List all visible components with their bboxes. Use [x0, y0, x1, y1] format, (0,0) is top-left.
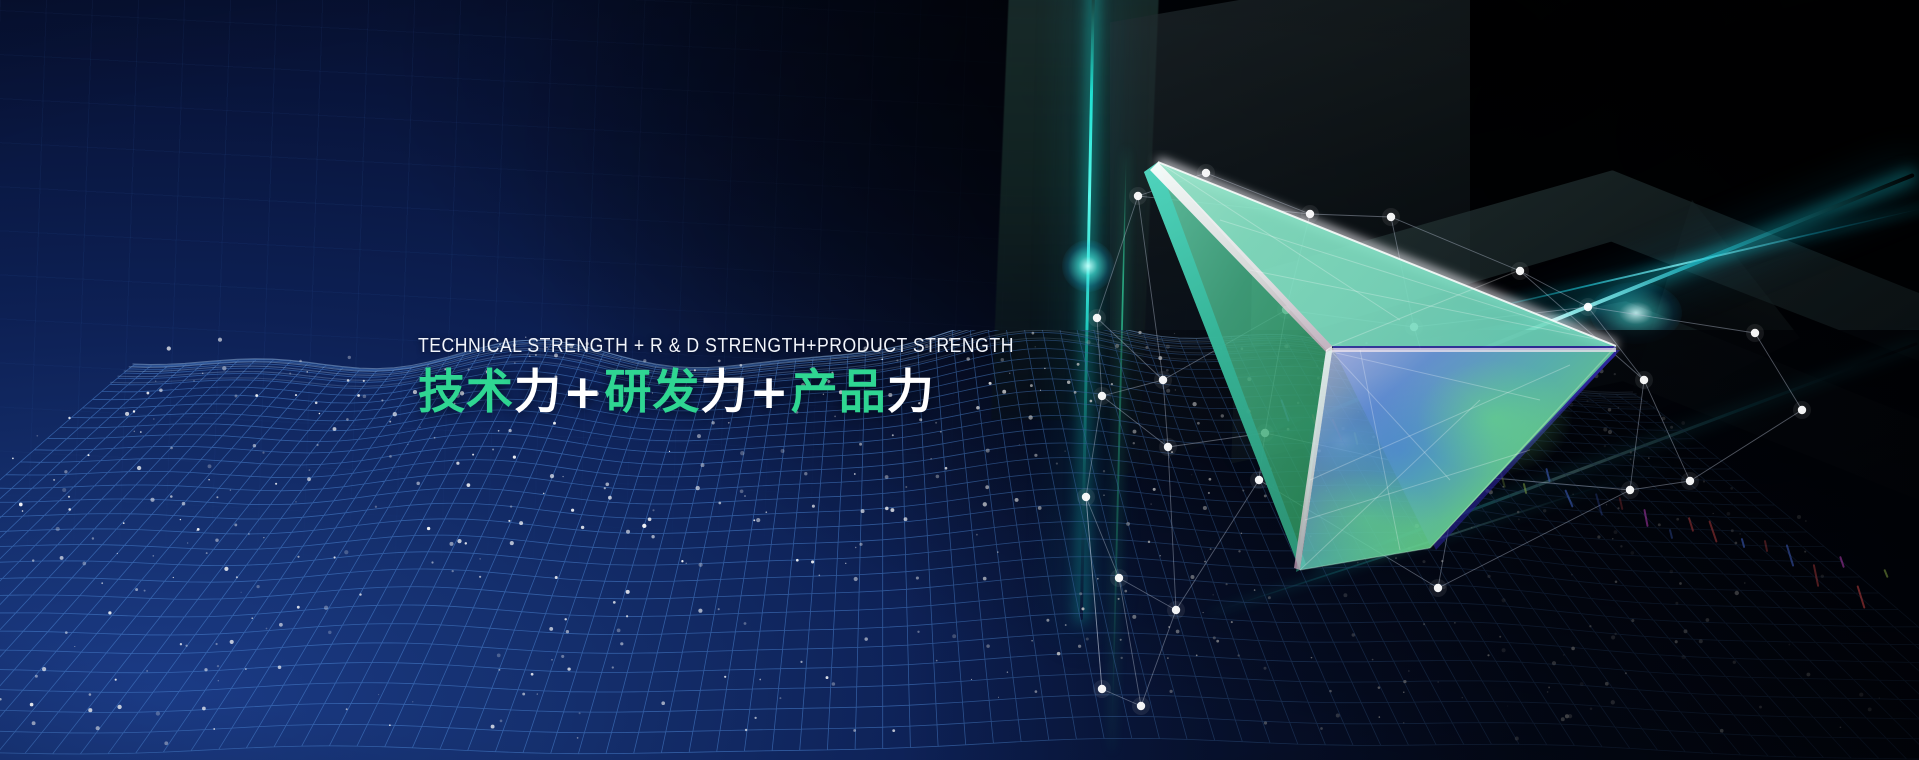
headline-segment-6: 力 — [887, 365, 935, 420]
headline-segment-5: 产品 — [791, 365, 887, 420]
headline-plus-1: + — [562, 365, 604, 420]
headline-segment-2: 力 — [514, 365, 562, 420]
headline-segment-1: 技术 — [418, 365, 514, 420]
headline-plus-2: + — [748, 365, 790, 420]
hero-banner: TECHNICAL STRENGTH + R & D STRENGTH+PROD… — [0, 0, 1919, 760]
headline-segment-4: 力 — [700, 365, 748, 420]
hero-copy-block: TECHNICAL STRENGTH + R & D STRENGTH+PROD… — [418, 336, 1058, 419]
page-title: 技术力+研发力+产品力 — [418, 367, 1058, 420]
folded-arrow-prism-icon — [1100, 150, 1660, 600]
headline-segment-3: 研发 — [604, 365, 700, 420]
eyebrow-subtitle: TECHNICAL STRENGTH + R & D STRENGTH+PROD… — [418, 336, 968, 357]
